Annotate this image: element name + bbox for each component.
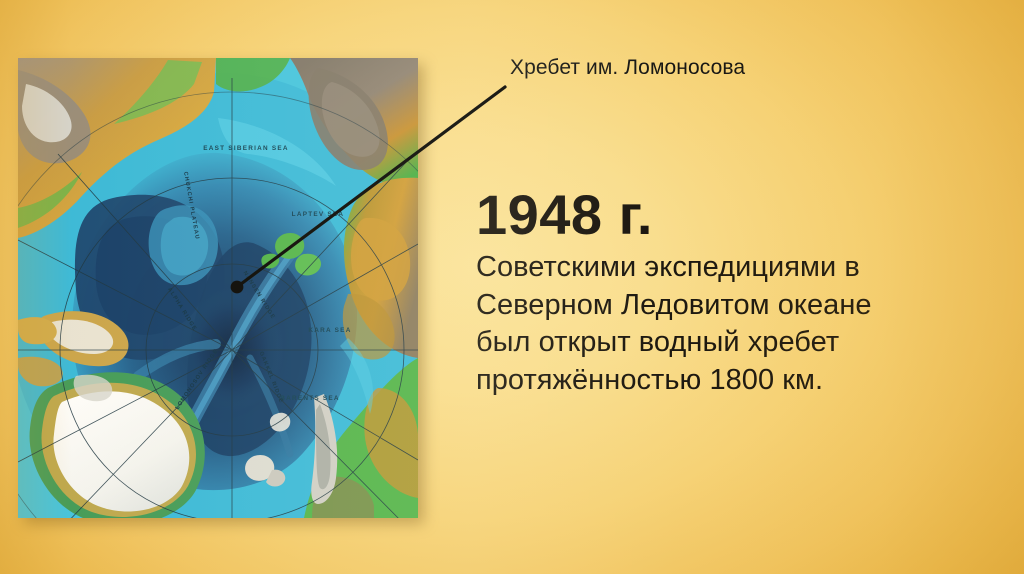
sea-label-laptev: LAPTEV SEA [292,211,345,218]
callout-title-label: Хребет им. Ломоносова [510,56,745,80]
sea-label-east-siberian: EAST SIBERIAN SEA [203,145,289,152]
sea-label-kara: KARA SEA [308,327,351,334]
description-line-4: протяжённостью 1800 км. [476,362,956,400]
year-heading: 1948 г. [476,186,956,243]
slide-canvas: EAST SIBERIAN SEA LAPTEV SEA KARA SEA BA… [0,0,1024,574]
description-text-block: 1948 г. Советскими экспедициями в Северн… [476,186,956,400]
map-frame: EAST SIBERIAN SEA LAPTEV SEA KARA SEA BA… [18,58,418,518]
description-line-3: был открыт водный хребет [476,324,956,362]
arctic-bathymetric-map: EAST SIBERIAN SEA LAPTEV SEA KARA SEA BA… [18,58,418,518]
arctic-map-figure: EAST SIBERIAN SEA LAPTEV SEA KARA SEA BA… [18,58,418,518]
description-line-2: Северном Ледовитом океане [476,287,956,325]
description-line-1: Советскими экспедициями в [476,249,956,287]
sea-label-barents: BARENTS SEA [280,395,340,402]
